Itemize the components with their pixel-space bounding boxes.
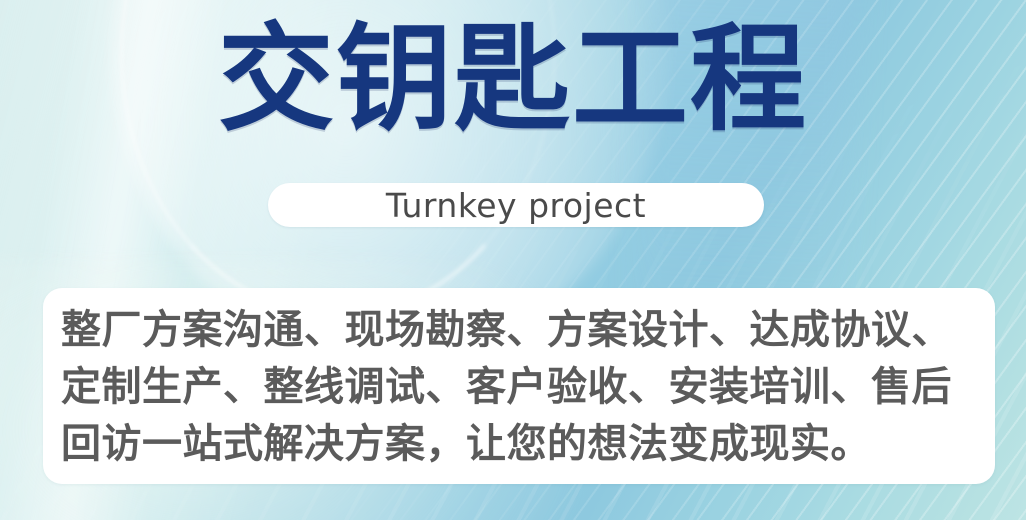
banner-content: 交钥匙工程 Turnkey project 整厂方案沟通、现场勘察、方案设计、达… (0, 0, 1026, 520)
headline-title: 交钥匙工程 (0, 16, 1026, 144)
description-card: 整厂方案沟通、现场勘察、方案设计、达成协议、 定制生产、整线调试、客户验收、安装… (43, 288, 995, 484)
subtitle-text: Turnkey project (386, 189, 646, 222)
subtitle-pill: Turnkey project (268, 183, 764, 227)
description-line-3: 回访一站式解决方案，让您的想法变成现实。 (57, 416, 981, 473)
description-line-2: 定制生产、整线调试、客户验收、安装培训、售后 (57, 359, 981, 416)
turnkey-project-banner: 交钥匙工程 Turnkey project 整厂方案沟通、现场勘察、方案设计、达… (0, 0, 1026, 520)
description-line-1: 整厂方案沟通、现场勘察、方案设计、达成协议、 (57, 302, 981, 359)
